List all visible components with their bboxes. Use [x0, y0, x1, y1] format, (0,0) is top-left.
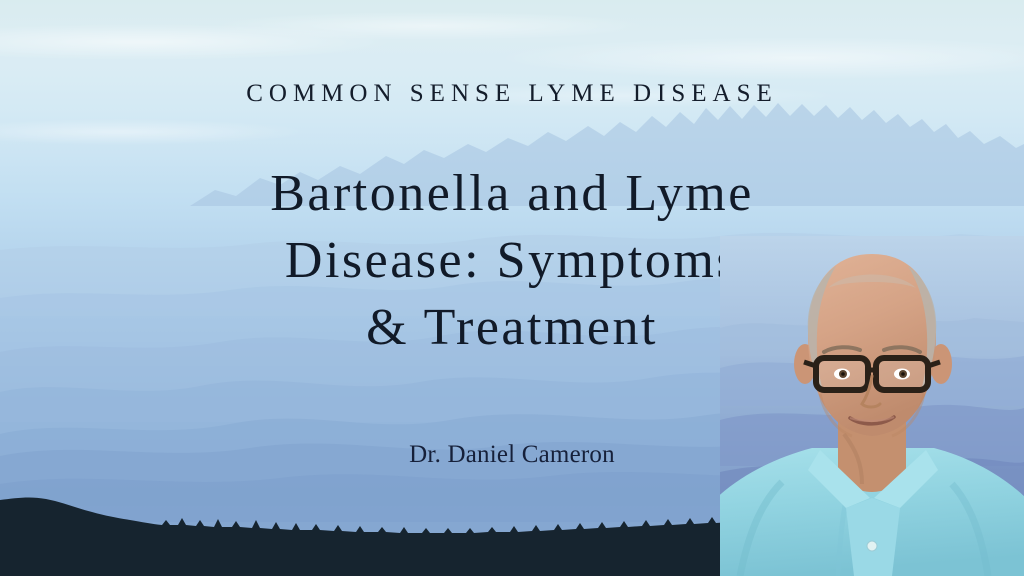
presenter-portrait — [720, 236, 1024, 576]
pupil-left — [841, 372, 845, 376]
kicker-series-title: COMMON SENSE LYME DISEASE — [0, 80, 1024, 108]
presenter-portrait-illustration — [720, 236, 1024, 576]
shirt-button — [867, 541, 877, 551]
pupil-right — [901, 372, 905, 376]
title-line-1: Bartonella and Lyme — [0, 160, 1024, 227]
video-thumbnail-slide: COMMON SENSE LYME DISEASE Bartonella and… — [0, 0, 1024, 576]
shirt-placket — [846, 498, 900, 576]
